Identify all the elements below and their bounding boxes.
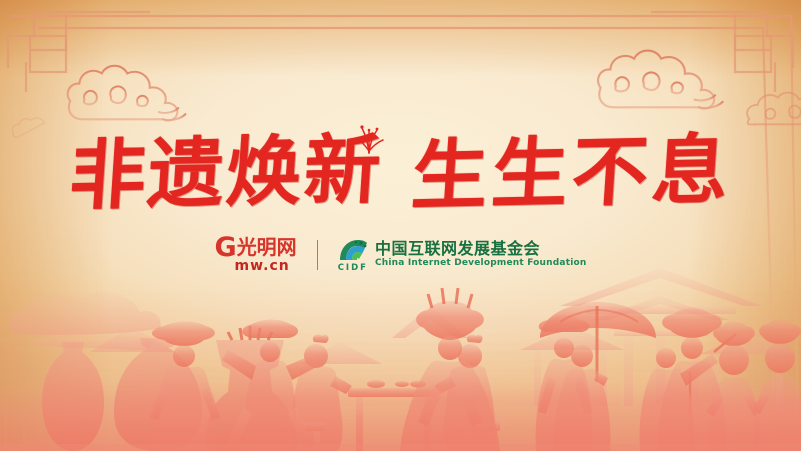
page-title-line-2: 生生不息 <box>409 132 735 215</box>
tea-table <box>348 380 438 451</box>
temple-pavilion <box>520 268 796 412</box>
fan-dancer-figure <box>640 334 737 451</box>
tea-ceremony-group <box>286 334 500 451</box>
cloud-top-left <box>68 66 186 121</box>
logo-row: G 光明网 mw.cn CIDF 中国互联网发展基金会 <box>0 232 801 278</box>
porcelain-vase-meiping <box>42 342 104 451</box>
traditional-bride-figure <box>400 288 500 451</box>
costume-figures-group <box>150 288 726 451</box>
folk-dancer-figure <box>222 320 326 451</box>
corner-bottom-right <box>777 400 795 451</box>
seated-scholar-figure-left <box>286 334 352 451</box>
pagoda-roofline <box>392 306 468 338</box>
right-figures-group <box>540 302 801 451</box>
background-scenery <box>10 268 796 412</box>
cidf-name-en: China Internet Development Foundation <box>375 259 587 268</box>
ethnic-costume-figure-3 <box>658 308 727 451</box>
corner-top-right <box>651 12 793 92</box>
cloud-top-right <box>598 51 723 109</box>
ground-line <box>0 444 801 451</box>
oil-paper-umbrella-figure <box>540 302 656 451</box>
oil-paper-umbrella <box>540 302 656 338</box>
porcelain-vase-gu <box>206 326 295 451</box>
porcelain-vases <box>42 326 294 451</box>
guangming-logo[interactable]: G 光明网 mw.cn <box>215 237 297 274</box>
page-title-line-1: 非遗焕新 <box>67 132 385 215</box>
ethnic-costume-figure-1 <box>150 322 220 451</box>
poster-canvas: 非遗焕新 生生不息 G 光明网 mw.cn <box>0 0 801 451</box>
dance-sleeve-right <box>286 352 326 380</box>
dance-fan <box>680 354 718 386</box>
title-block: 非遗焕新 生生不息 <box>0 118 801 228</box>
dance-sleeve-left <box>222 350 256 380</box>
child-figure-2 <box>752 320 801 451</box>
ethnic-costume-figure-2 <box>536 316 593 451</box>
cidf-logo[interactable]: CIDF 中国互联网发展基金会 China Internet Developme… <box>338 238 587 273</box>
seated-scholar-figure-right <box>434 334 500 451</box>
cidf-abbreviation: CIDF <box>338 263 368 273</box>
child-figure-1 <box>706 322 762 451</box>
corner-bottom-left <box>6 400 24 451</box>
bottom-color-wash <box>0 381 801 451</box>
guangming-name-cn: 光明网 <box>237 237 297 257</box>
phoenix-crown <box>416 301 484 340</box>
guangming-domain: mw.cn <box>235 259 290 273</box>
guangming-g-mark: G <box>215 237 236 260</box>
pine-tree <box>10 292 161 335</box>
bride-robe <box>400 361 500 451</box>
cidf-name-cn: 中国互联网发展基金会 <box>375 241 587 258</box>
sprout-flourish-icon <box>352 124 386 154</box>
cidf-wave-net-icon <box>338 238 368 262</box>
logo-divider <box>317 240 318 270</box>
corner-top-left <box>8 12 150 92</box>
porcelain-vase-round <box>114 338 202 451</box>
